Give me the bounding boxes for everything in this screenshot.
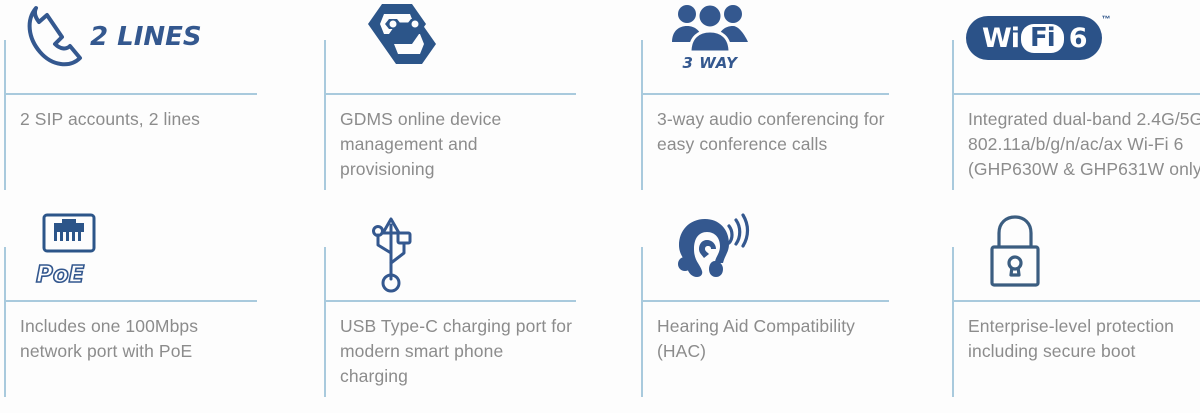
svg-text:PoE: PoE <box>36 262 85 287</box>
feature-icon-two-lines: 2 LINES <box>22 2 202 88</box>
wifi-badge-wi-text: Wi <box>982 25 1019 52</box>
feature-caption-wifi6: Integrated dual-band 2.4G/5G 802.11a/b/g… <box>968 107 1200 182</box>
feature-cell-poe: PoE Includes one 100Mbps network port wi… <box>0 207 320 413</box>
feature-cell-secure-boot: Enterprise-level protection including se… <box>948 207 1200 413</box>
feature-caption-gdms: GDMS online device management and provis… <box>340 107 576 182</box>
poe-text-icon: PoE <box>34 261 104 287</box>
feature-caption-two-lines: 2 SIP accounts, 2 lines <box>20 107 256 132</box>
wifi-6-badge-icon: Wi Fi 6 ™ <box>966 16 1102 60</box>
feature-cell-two-lines: 2 LINES 2 SIP accounts, 2 lines <box>0 0 320 207</box>
cell-vertical-rule <box>4 40 6 190</box>
usb-icon <box>364 213 418 293</box>
cell-vertical-rule <box>4 247 6 397</box>
two-lines-badge-label: 2 LINES <box>90 22 202 52</box>
cell-vertical-rule <box>324 40 326 190</box>
feature-icon-poe: PoE <box>34 209 104 295</box>
cell-vertical-rule <box>952 40 954 190</box>
cell-horizontal-rule <box>324 93 576 95</box>
feature-icon-secure-boot <box>984 213 1046 299</box>
feature-caption-secure-boot: Enterprise-level protection including se… <box>968 314 1200 364</box>
wifi-badge-fi-text: Fi <box>1030 23 1055 53</box>
cell-horizontal-rule <box>952 93 1200 95</box>
feature-cell-wifi6: Wi Fi 6 ™ Integrated dual-band 2.4G/5G 8… <box>948 0 1200 207</box>
cell-horizontal-rule <box>641 300 889 302</box>
cell-vertical-rule <box>324 247 326 397</box>
feature-caption-hearing-aid: Hearing Aid Compatibility (HAC) <box>657 314 893 364</box>
feature-icon-hearing-aid <box>671 213 751 299</box>
gdms-hexagon-icon <box>356 2 452 66</box>
feature-caption-poe: Includes one 100Mbps network port with P… <box>20 314 256 364</box>
feature-cell-three-way: 3 WAY 3-way audio conferencing for easy … <box>637 0 948 207</box>
wifi-badge-six-text: 6 <box>1069 25 1088 52</box>
feature-icon-three-way: 3 WAY <box>669 2 751 88</box>
three-people-icon <box>669 2 751 54</box>
cell-horizontal-rule <box>4 300 257 302</box>
feature-caption-three-way: 3-way audio conferencing for easy confer… <box>657 107 893 157</box>
feature-grid: 2 LINES 2 SIP accounts, 2 lines GDMS onl… <box>0 0 1200 413</box>
three-way-badge-label: 3 WAY <box>683 54 738 72</box>
cell-horizontal-rule <box>952 300 1200 302</box>
feature-icon-usb <box>364 213 418 299</box>
cell-horizontal-rule <box>324 300 576 302</box>
wifi-badge-fi-pill: Fi <box>1021 24 1064 53</box>
cell-vertical-rule <box>641 40 643 190</box>
ethernet-poe-icon <box>41 209 97 259</box>
feature-icon-wifi6: Wi Fi 6 ™ <box>966 2 1102 88</box>
cell-horizontal-rule <box>4 93 257 95</box>
cell-horizontal-rule <box>641 93 889 95</box>
cell-vertical-rule <box>641 247 643 397</box>
feature-cell-gdms: GDMS online device management and provis… <box>320 0 637 207</box>
feature-cell-hearing-aid: Hearing Aid Compatibility (HAC) <box>637 207 948 413</box>
trademark-icon: ™ <box>1102 14 1111 24</box>
padlock-icon <box>984 213 1046 289</box>
feature-caption-usb: USB Type-C charging port for modern smar… <box>340 314 576 389</box>
hearing-aid-ear-icon <box>671 213 751 289</box>
phone-handset-icon <box>22 2 86 72</box>
cell-vertical-rule <box>952 247 954 397</box>
feature-cell-usb: USB Type-C charging port for modern smar… <box>320 207 637 413</box>
feature-icon-gdms <box>356 2 452 88</box>
